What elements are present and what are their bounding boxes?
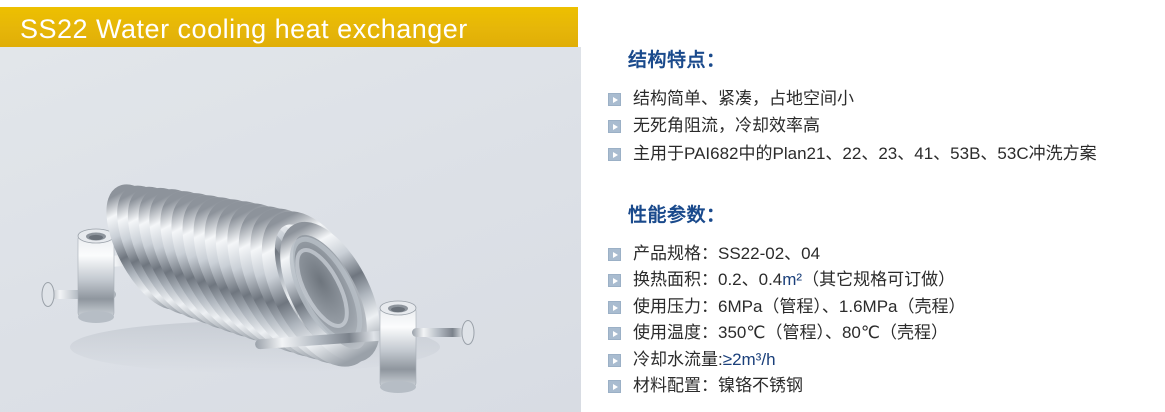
spec-text: 材料配置：镍铬不锈钢 [633,375,803,396]
spec-text: 使用压力：6MPa（管程）、1.6MPa（壳程） [633,296,966,317]
feature-list-item: 无死角阻流，冷却效率高 [608,115,820,136]
play-triangle-icon [608,248,621,261]
spec-label: 材料配置： [633,376,718,395]
page-title: SS22 Water cooling heat exchanger [20,14,468,45]
feature-list-item: 主用于PAI682中的Plan21、22、23、41、53B、53C冲洗方案 [608,143,1097,164]
spec-list-item: 使用压力：6MPa（管程）、1.6MPa（壳程） [608,296,966,317]
spec-value: 350℃（管程）、80℃（壳程） [718,323,948,342]
spec-label: 换热面积： [633,270,718,289]
spec-list-item: 换热面积：0.2、0.4m²（其它规格可订做） [608,269,955,290]
play-triangle-icon [608,301,621,314]
spec-list-item: 冷却水流量:≥2m³/h [608,349,776,370]
spec-text: 产品规格：SS22-02、04 [633,243,820,264]
spec-value: 6MPa（管程）、1.6MPa（壳程） [718,297,966,316]
product-description-panel: 结构特点： 结构简单、紧凑，占地空间小 无死角阻流，冷却效率高 主用于PAI68… [600,0,1165,412]
spec-suffix: （其它规格可订做） [802,270,955,289]
feature-text: 无死角阻流，冷却效率高 [633,115,820,136]
specs-heading: 性能参数： [628,200,726,227]
play-triangle-icon [608,274,621,287]
left-port-block [78,229,114,323]
spec-text: 使用温度：350℃（管程）、80℃（壳程） [633,322,948,343]
play-triangle-icon [608,354,621,367]
play-triangle-icon [608,120,621,133]
play-triangle-icon [608,93,621,106]
play-triangle-icon [608,327,621,340]
spec-label: 产品规格： [633,244,718,263]
spec-value: 0.2、0.4 [718,270,782,289]
spec-label: 冷却水流量: [633,350,723,369]
feature-text: 主用于PAI682中的Plan21、22、23、41、53B、53C冲洗方案 [633,143,1097,164]
product-image-panel: SS22 Water cooling heat exchanger [0,0,581,412]
spec-unit: ≥2m³/h [723,350,776,369]
spec-value: SS22-02、04 [718,244,820,263]
play-triangle-icon [608,148,621,161]
spec-label: 使用温度： [633,323,718,342]
spec-text: 冷却水流量:≥2m³/h [633,349,776,370]
product-title-bar: SS22 Water cooling heat exchanger [0,7,578,47]
spec-list-item: 产品规格：SS22-02、04 [608,243,820,264]
play-triangle-icon [608,380,621,393]
spec-label: 使用压力： [633,297,718,316]
product-photo-background [0,47,581,412]
spec-unit: m² [782,270,802,289]
spec-list-item: 材料配置：镍铬不锈钢 [608,375,803,396]
feature-list-item: 结构简单、紧凑，占地空间小 [608,88,854,109]
feature-text: 结构简单、紧凑，占地空间小 [633,88,854,109]
heat-exchanger-illustration [0,47,581,412]
spec-value: 镍铬不锈钢 [718,376,803,395]
features-heading: 结构特点： [628,45,726,72]
spec-text: 换热面积：0.2、0.4m²（其它规格可订做） [633,269,955,290]
spec-list-item: 使用温度：350℃（管程）、80℃（壳程） [608,322,948,343]
